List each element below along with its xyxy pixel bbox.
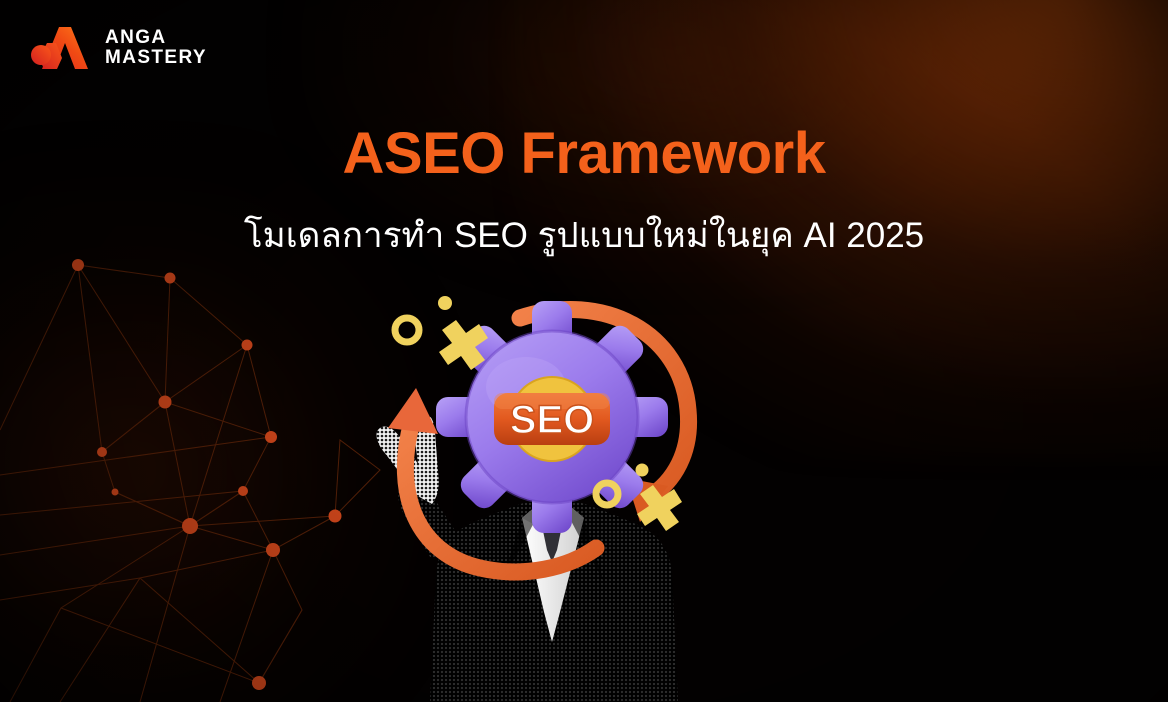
hero-illustration-graphic: SEO — [352, 282, 752, 702]
accent-cluster-left — [395, 296, 488, 370]
brand-name-line2: MASTERY — [105, 48, 207, 68]
brand-name-line1: ANGA — [105, 28, 207, 48]
page-title: ASEO Framework — [0, 125, 1168, 183]
seo-badge: SEO — [494, 393, 610, 445]
anga-m-monogram-icon — [30, 24, 92, 72]
seo-badge-label: SEO — [510, 398, 594, 442]
brand-wordmark: ANGA MASTERY — [105, 28, 207, 68]
dot-accent-icon — [636, 464, 649, 477]
brand-logo[interactable]: ANGA MASTERY — [30, 24, 207, 72]
hero-illustration: SEO — [352, 282, 752, 702]
dot-accent-icon — [438, 296, 452, 310]
ring-accent-icon — [395, 318, 419, 342]
cycle-arrow-up-head-icon — [388, 388, 438, 434]
banner-root: ANGA MASTERY ASEO Framework โมเดลการทำ S… — [0, 0, 1168, 702]
page-subtitle: โมเดลการทำ SEO รูปแบบใหม่ในยุค AI 2025 — [0, 215, 1168, 258]
